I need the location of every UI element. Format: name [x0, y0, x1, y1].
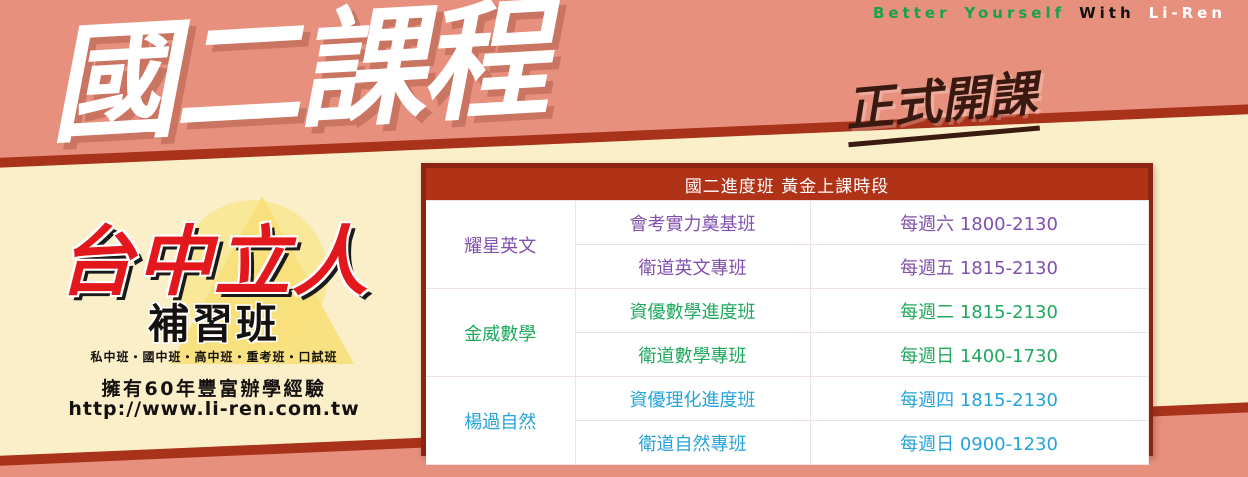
cell-subject: 楊過自然 — [426, 377, 575, 465]
tagline-word-liren: Li-Ren — [1149, 4, 1226, 22]
headline-title: 國二課程 — [45, 0, 548, 154]
headline-block: 國二課程 — [45, 0, 548, 154]
tagline-word-better: Better — [873, 4, 951, 22]
cell-course-name: 衛道數學專班 — [575, 333, 810, 377]
brand-tagline: Better Yourself With Li-Ren — [640, 1, 1240, 25]
cell-course-name: 衛道自然專班 — [575, 421, 810, 465]
schedule-table: 國二進度班 黃金上課時段 耀星英文會考實力奠基班每週六 1800-2130衛道英… — [426, 168, 1149, 465]
promo-banner: Better Yourself With Li-Ren 國二課程 正式開課 台中… — [0, 0, 1248, 477]
cell-course-name: 衛道英文專班 — [575, 245, 810, 289]
logo-name: 台中立人 — [18, 224, 410, 300]
tagline-word-with: With — [1079, 4, 1135, 22]
logo-website-url: http://www.li-ren.com.tw — [18, 398, 410, 420]
table-header-row: 國二進度班 黃金上課時段 — [426, 168, 1148, 201]
schedule-table-container: 國二進度班 黃金上課時段 耀星英文會考實力奠基班每週六 1800-2130衛道英… — [421, 163, 1153, 456]
tagline-word-yourself: Yourself — [964, 4, 1065, 22]
cell-class-time: 每週二 1815-2130 — [810, 289, 1148, 333]
logo-experience: 擁有60年豐富辦學經驗 — [18, 374, 410, 401]
table-row: 金威數學資優數學進度班每週二 1815-2130 — [426, 289, 1148, 333]
cell-subject: 金威數學 — [426, 289, 575, 377]
cell-class-time: 每週日 0900-1230 — [810, 421, 1148, 465]
schedule-table-body: 耀星英文會考實力奠基班每週六 1800-2130衛道英文專班每週五 1815-2… — [426, 201, 1148, 465]
cell-class-time: 每週四 1815-2130 — [810, 377, 1148, 421]
logo-subtitle: 補習班 — [18, 304, 410, 345]
cell-course-name: 會考實力奠基班 — [575, 201, 810, 245]
cell-course-name: 資優數學進度班 — [575, 289, 810, 333]
table-row: 楊過自然資優理化進度班每週四 1815-2130 — [426, 377, 1148, 421]
cell-class-time: 每週日 1400-1730 — [810, 333, 1148, 377]
schedule-table-title: 國二進度班 黃金上課時段 — [426, 168, 1148, 201]
cell-class-time: 每週六 1800-2130 — [810, 201, 1148, 245]
logo-class-list: 私中班・國中班・高中班・重考班・口試班 — [18, 348, 410, 365]
logo-block: 台中立人 補習班 私中班・國中班・高中班・重考班・口試班 擁有60年豐富辦學經驗… — [18, 196, 410, 422]
cell-course-name: 資優理化進度班 — [575, 377, 810, 421]
cell-class-time: 每週五 1815-2130 — [810, 245, 1148, 289]
cell-subject: 耀星英文 — [426, 201, 575, 289]
table-row: 耀星英文會考實力奠基班每週六 1800-2130 — [426, 201, 1148, 245]
